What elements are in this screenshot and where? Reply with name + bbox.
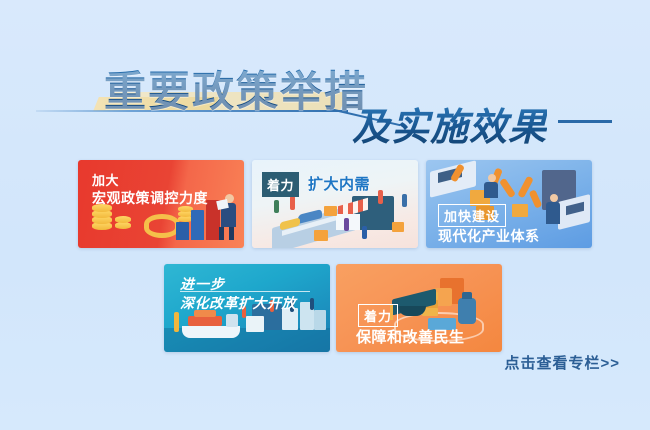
card-demand-line-1: 着力 xyxy=(262,172,299,197)
policy-banner: 重要政策举措 及实施效果 xyxy=(0,0,650,430)
card-macro-line-1: 加大 xyxy=(92,170,119,189)
card-deepen-reform-opening[interactable]: 进一步 深化改革扩大开放 xyxy=(164,264,330,352)
card-modern-industrial-system[interactable]: 加快建设 现代化产业体系 xyxy=(426,160,592,248)
card-safeguard-peoples-livelihood[interactable]: 着力 保障和改善民生 xyxy=(336,264,502,352)
card-macro-policy-control[interactable]: 加大 宏观政策调控力度 xyxy=(78,160,244,248)
page-title-line-2: 及实施效果 xyxy=(352,96,547,151)
card-livelihood-line-1: 着力 xyxy=(358,304,398,327)
view-column-link[interactable]: 点击查看专栏>> xyxy=(504,352,620,373)
card-industry-line-1: 加快建设 xyxy=(438,204,506,227)
card-expand-domestic-demand[interactable]: 着力 扩大内需 xyxy=(252,160,418,248)
card-macro-line-2: 宏观政策调控力度 xyxy=(92,188,208,208)
banner-title-block: 重要政策举措 及实施效果 xyxy=(0,58,650,154)
card-livelihood-line-2: 保障和改善民生 xyxy=(356,326,465,347)
card-reform-divider xyxy=(180,291,310,292)
coin-ring-illustration xyxy=(144,214,180,238)
card-demand-line-2: 扩大内需 xyxy=(308,173,370,194)
card-industry-line-2: 现代化产业体系 xyxy=(438,226,540,246)
title-rule-right xyxy=(558,120,612,123)
page-title-line-1: 重要政策举措 xyxy=(104,58,368,119)
card-reform-line-2: 深化改革扩大开放 xyxy=(180,293,296,313)
